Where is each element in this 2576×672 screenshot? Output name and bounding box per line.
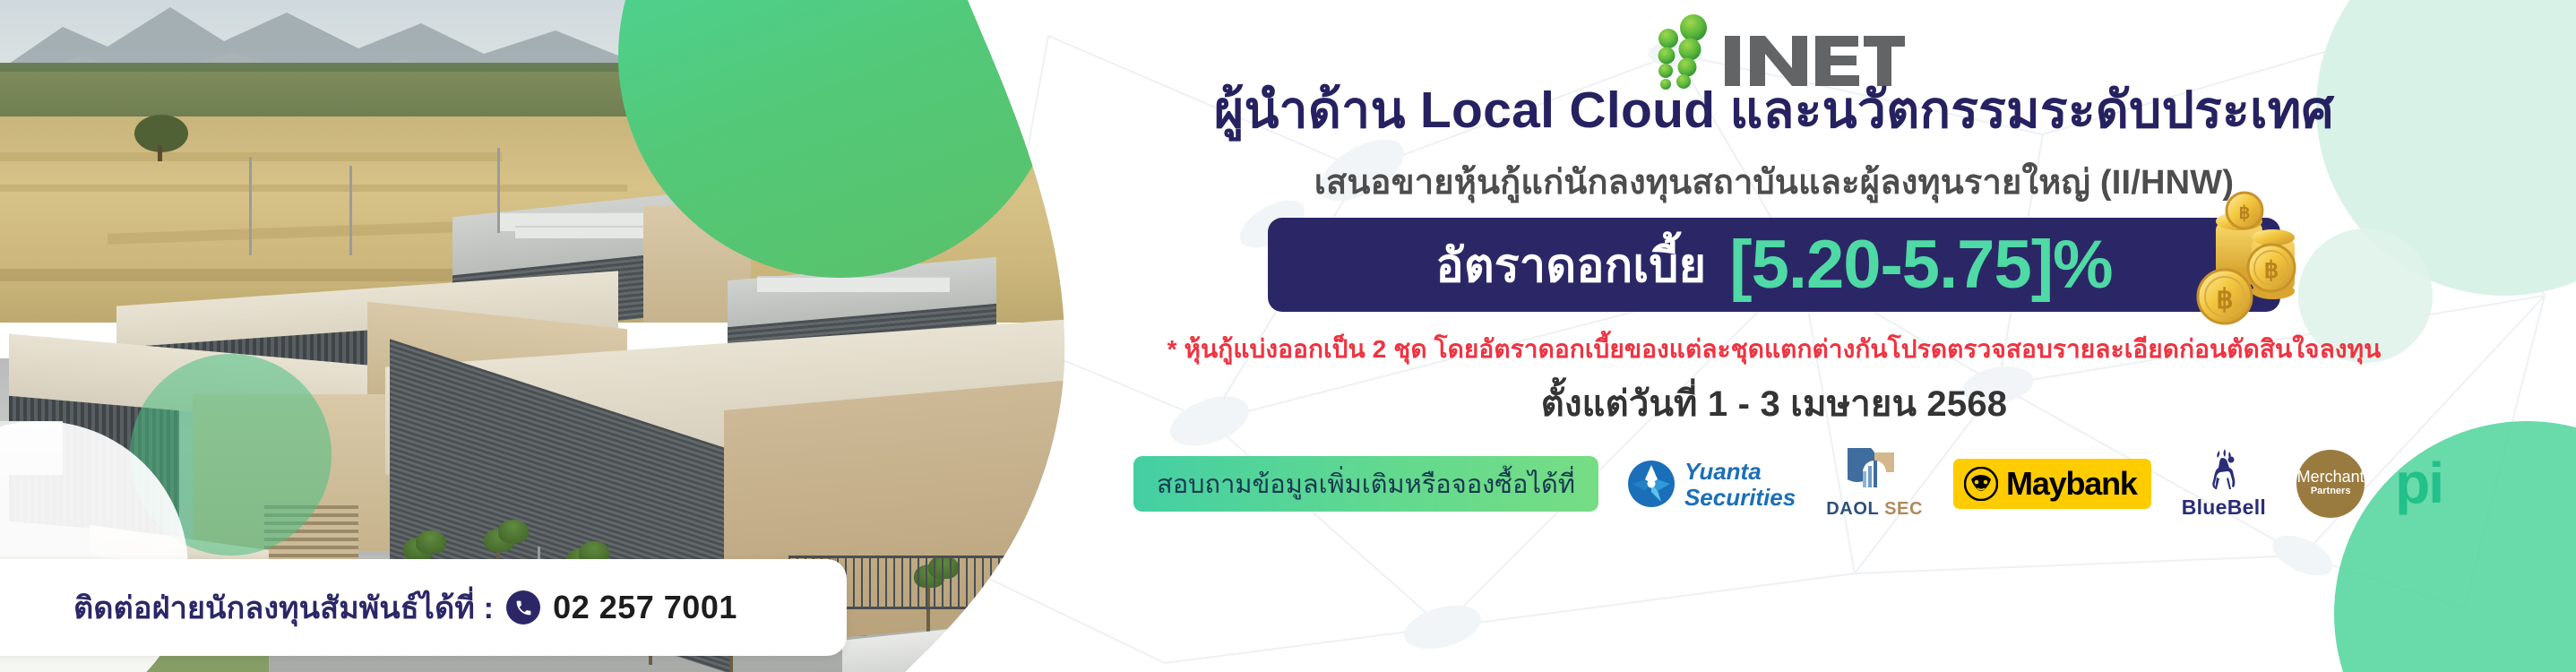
merchant-line2: Partners <box>2311 485 2351 498</box>
yuanta-line2: Securities <box>1684 486 1796 509</box>
partner-logo-bluebell[interactable]: BlueBell <box>2182 448 2266 520</box>
daol-pie-icon <box>1848 448 1901 496</box>
inet-wordmark-icon <box>1723 27 1907 90</box>
svg-text:฿: ฿ <box>2239 203 2251 223</box>
svg-text:฿: ฿ <box>2216 285 2233 314</box>
partner-logo-maybank[interactable]: Maybank <box>1953 448 2151 520</box>
partner-logo-daol-sec[interactable]: DAOL SEC <box>1826 448 1923 520</box>
bluebell-wordmark: BlueBell <box>2182 495 2266 520</box>
inet-dots-icon <box>1642 13 1719 90</box>
content-column: ผู้นำด้าน Local Cloud และนวัตกรรมระดับปร… <box>1030 0 2576 672</box>
pi-wordmark-icon: pi <box>2395 461 2442 506</box>
phone-icon <box>506 590 540 625</box>
banner-root: ติดต่อฝ่ายนักลงทุนสัมพันธ์ได้ที่ : 02 25… <box>0 0 2576 672</box>
yuanta-star-icon <box>1627 460 1676 508</box>
contact-phone-number: 02 257 7001 <box>553 589 737 626</box>
maybank-wordmark: Maybank <box>2006 465 2137 503</box>
partners-row: สอบถามข้อมูลเพิ่มเติมหรือจองซื้อได้ที่ <box>1030 448 2545 520</box>
cta-label: สอบถามข้อมูลเพิ่มเติมหรือจองซื้อได้ที่ <box>1157 463 1575 504</box>
inet-logo <box>1030 13 2518 90</box>
interest-rate-label: อัตราดอกเบี้ย <box>1435 228 1706 302</box>
disclaimer-note: * หุ้นกู้แบ่งออกเป็น 2 ชุด โดยอัตราดอกเบ… <box>1030 330 2518 369</box>
svg-text:฿: ฿ <box>2264 257 2279 283</box>
bluebell-deer-icon <box>2198 448 2250 493</box>
partner-logo-pi[interactable]: pi <box>2395 448 2442 520</box>
interest-rate-box: อัตราดอกเบี้ย [5.20-5.75]% <box>1268 218 2280 312</box>
contact-label: ติดต่อฝ่ายนักลงทุนสัมพันธ์ได้ที่ : <box>73 583 494 632</box>
cta-subscribe-button[interactable]: สอบถามข้อมูลเพิ่มเติมหรือจองซื้อได้ที่ <box>1133 456 1598 512</box>
partner-logo-yuanta[interactable]: Yuanta Securities <box>1627 448 1796 520</box>
daol-wordmark: DAOL SEC <box>1826 499 1923 520</box>
gold-coins-icon: ฿ ฿ ฿ <box>2175 191 2300 334</box>
merchant-line1: Merchant <box>2297 469 2365 485</box>
page-title: ผู้นำด้าน Local Cloud และนวัตกรรมระดับปร… <box>1030 82 2518 140</box>
yuanta-line1: Yuanta <box>1684 460 1762 483</box>
interest-rate-value: [5.20-5.75]% <box>1729 231 2112 299</box>
maybank-tiger-icon <box>1964 467 1998 501</box>
offering-dates: ตั้งแต่วันที่ 1 - 3 เมษายน 2568 <box>1030 375 2518 432</box>
investor-relations-contact-card[interactable]: ติดต่อฝ่ายนักลงทุนสัมพันธ์ได้ที่ : 02 25… <box>0 559 847 656</box>
merchant-circle-icon: Merchant Partners <box>2296 450 2365 518</box>
partner-logo-merchant-partners[interactable]: Merchant Partners <box>2296 448 2365 520</box>
